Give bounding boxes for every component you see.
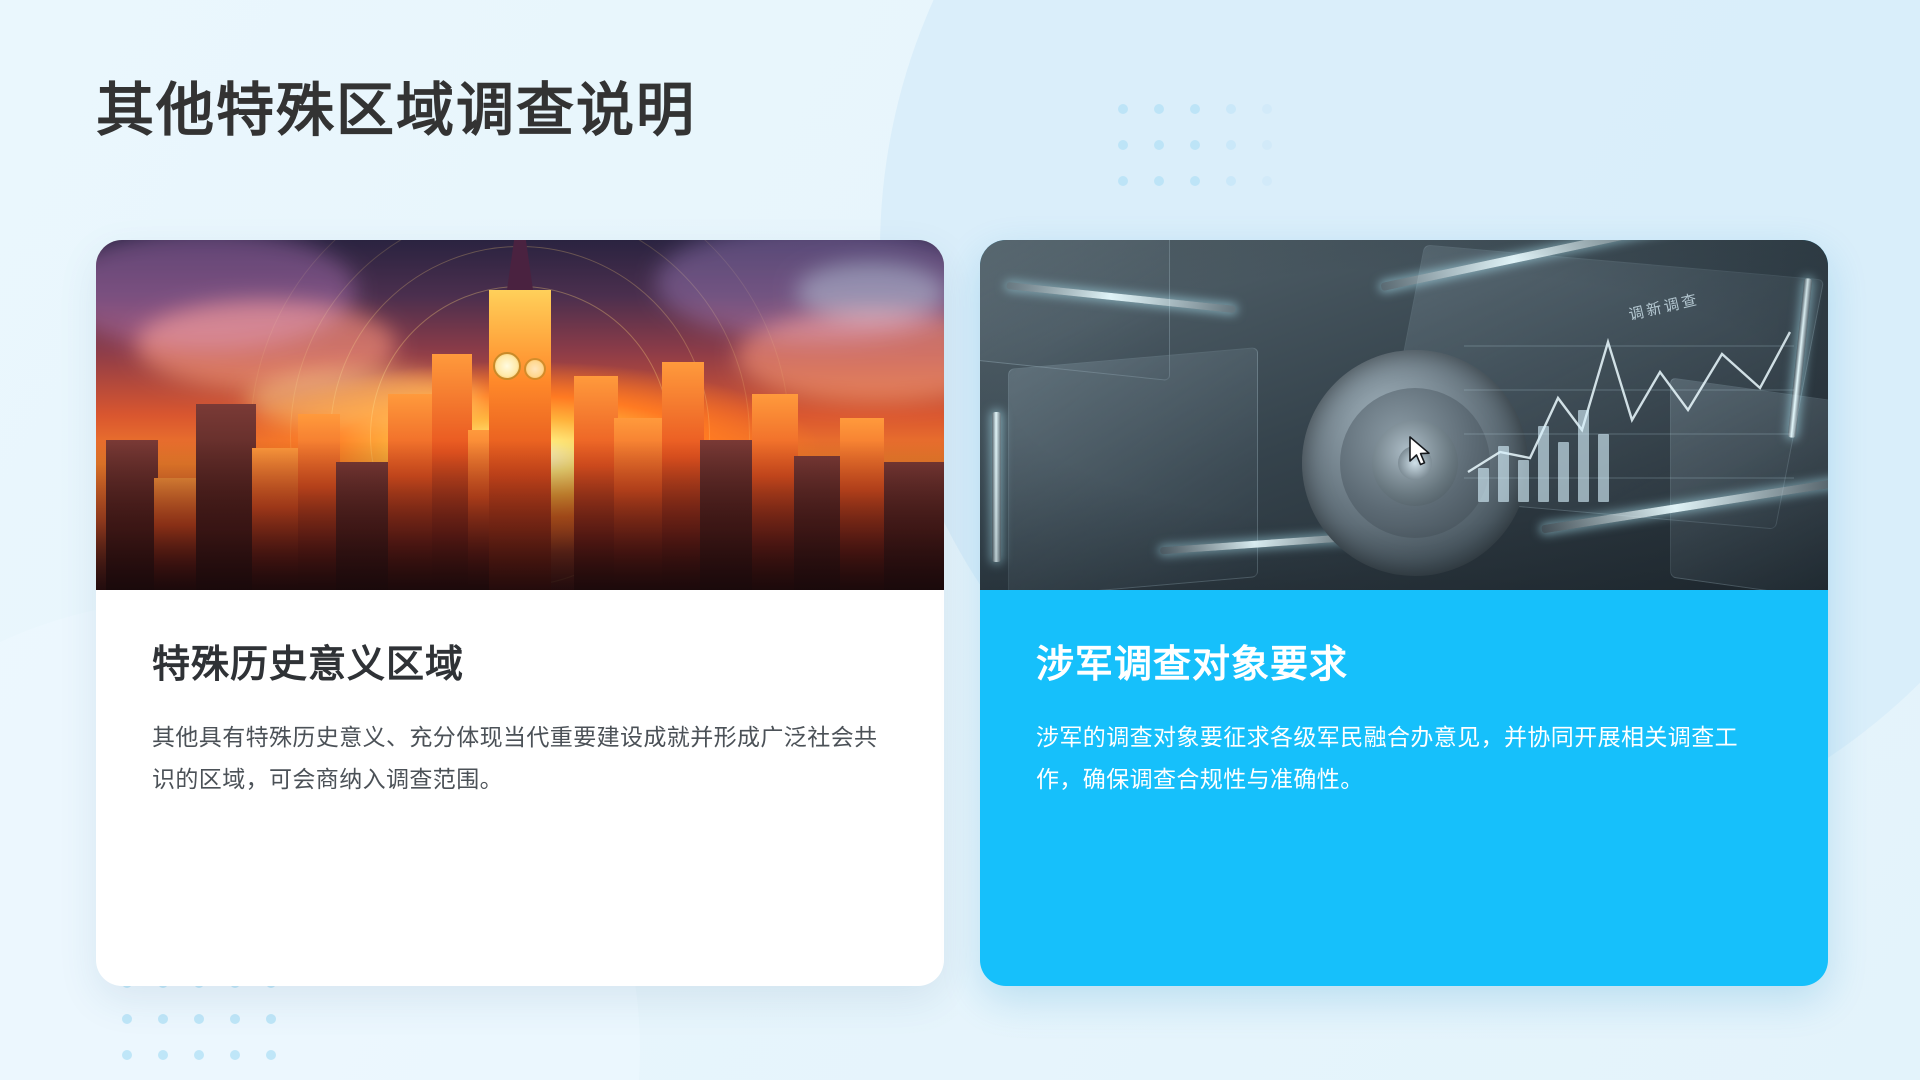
- card-list: 特殊历史意义区域 其他具有特殊历史意义、充分体现当代重要建设成就并形成广泛社会共…: [96, 240, 1828, 986]
- card-image-military-survey-requirement: 调新调查: [980, 240, 1828, 590]
- tower-spire: [507, 240, 533, 290]
- card-military-survey-requirement[interactable]: 调新调查: [980, 240, 1828, 986]
- clock-face: [524, 358, 546, 380]
- card-text-military-survey-requirement: 涉军的调查对象要征求各级军民融合办意见，并协同开展相关调查工作，确保调查合规性与…: [1036, 716, 1772, 801]
- cloud: [796, 262, 944, 322]
- card-special-historic-area[interactable]: 特殊历史意义区域 其他具有特殊历史意义、充分体现当代重要建设成就并形成广泛社会共…: [96, 240, 944, 986]
- page-title: 其他特殊区域调查说明: [96, 76, 696, 146]
- card-image-special-historic-area: [96, 240, 944, 590]
- image-vignette: [980, 240, 1828, 590]
- card-text-special-historic-area: 其他具有特殊历史意义、充分体现当代重要建设成就并形成广泛社会共识的区域，可会商纳…: [152, 716, 888, 801]
- foreground-haze: [96, 440, 944, 590]
- card-title-military-survey-requirement: 涉军调查对象要求: [1036, 642, 1772, 690]
- clock-face: [493, 352, 521, 380]
- card-body-military-survey-requirement: 涉军调查对象要求 涉军的调查对象要征求各级军民融合办意见，并协同开展相关调查工作…: [980, 590, 1828, 801]
- card-title-special-historic-area: 特殊历史意义区域: [152, 642, 888, 690]
- card-body-special-historic-area: 特殊历史意义区域 其他具有特殊历史意义、充分体现当代重要建设成就并形成广泛社会共…: [96, 590, 944, 801]
- slide-root: 其他特殊区域调查说明: [0, 0, 1920, 1080]
